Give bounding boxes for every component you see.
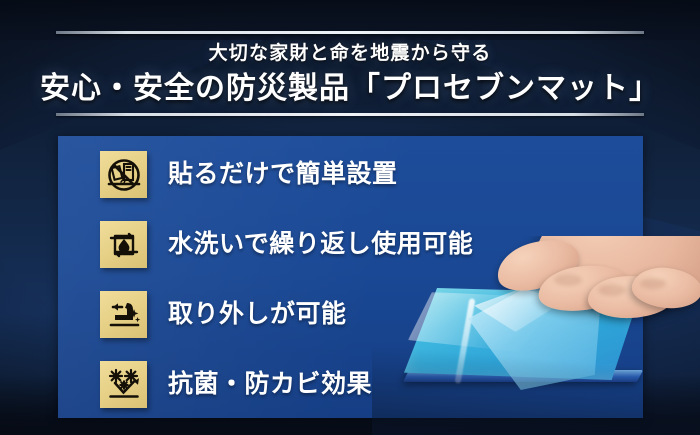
antibacterial-antimold-icon bbox=[100, 361, 147, 408]
header-rule-bottom bbox=[56, 113, 644, 116]
photo-bottom-shade bbox=[372, 236, 700, 435]
no-tipping-furniture-icon bbox=[100, 151, 147, 198]
banner-stage: 大切な家財と命を地震から守る 安心・安全の防災製品「プロセブンマット」 bbox=[0, 0, 700, 435]
removable-peel-icon bbox=[100, 291, 147, 338]
washable-reuse-icon bbox=[100, 221, 147, 268]
feature-label: 抗菌・防カビ効果 bbox=[168, 364, 372, 405]
header: 大切な家財と命を地震から守る 安心・安全の防災製品「プロセブンマット」 bbox=[0, 24, 700, 119]
feature-row: 貼るだけで簡単設置 bbox=[100, 151, 530, 221]
feature-label: 取り外しが可能 bbox=[168, 294, 347, 335]
header-rule-top bbox=[56, 31, 644, 34]
feature-label: 貼るだけで簡単設置 bbox=[168, 154, 398, 195]
header-subtitle: 大切な家財と命を地震から守る bbox=[0, 38, 700, 65]
hand-peeling-gel-mat-photo bbox=[372, 236, 700, 435]
header-title: 安心・安全の防災製品「プロセブンマット」 bbox=[0, 63, 700, 107]
